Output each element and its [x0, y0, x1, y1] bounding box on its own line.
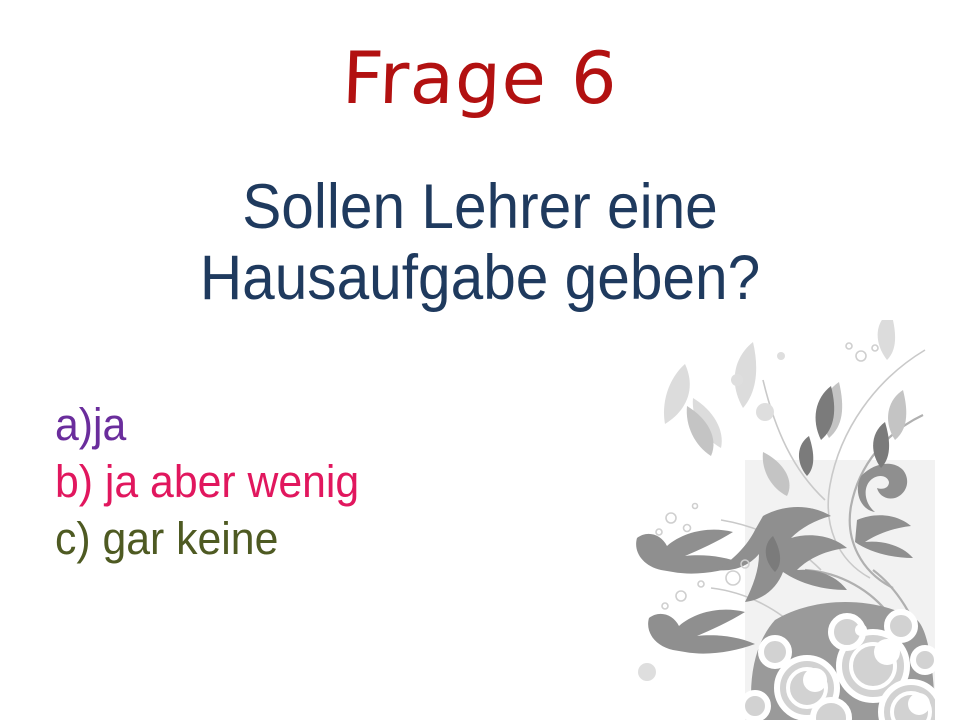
answer-option-c[interactable]: c) gar keine — [55, 510, 625, 567]
answer-option-b[interactable]: b) ja aber wenig — [55, 453, 625, 510]
floral-swirl-ornament — [625, 320, 935, 720]
page-title: Frage 6 — [0, 42, 960, 114]
answer-option-a[interactable]: a)ja — [55, 396, 625, 453]
answer-options-list: a)ja b) ja aber wenig c) gar keine — [55, 396, 655, 567]
question-text: Sollen Lehrer eine Hausaufgabe geben? — [34, 172, 927, 313]
slide-canvas: Frage 6 Sollen Lehrer eine Hausaufgabe g… — [0, 0, 960, 720]
